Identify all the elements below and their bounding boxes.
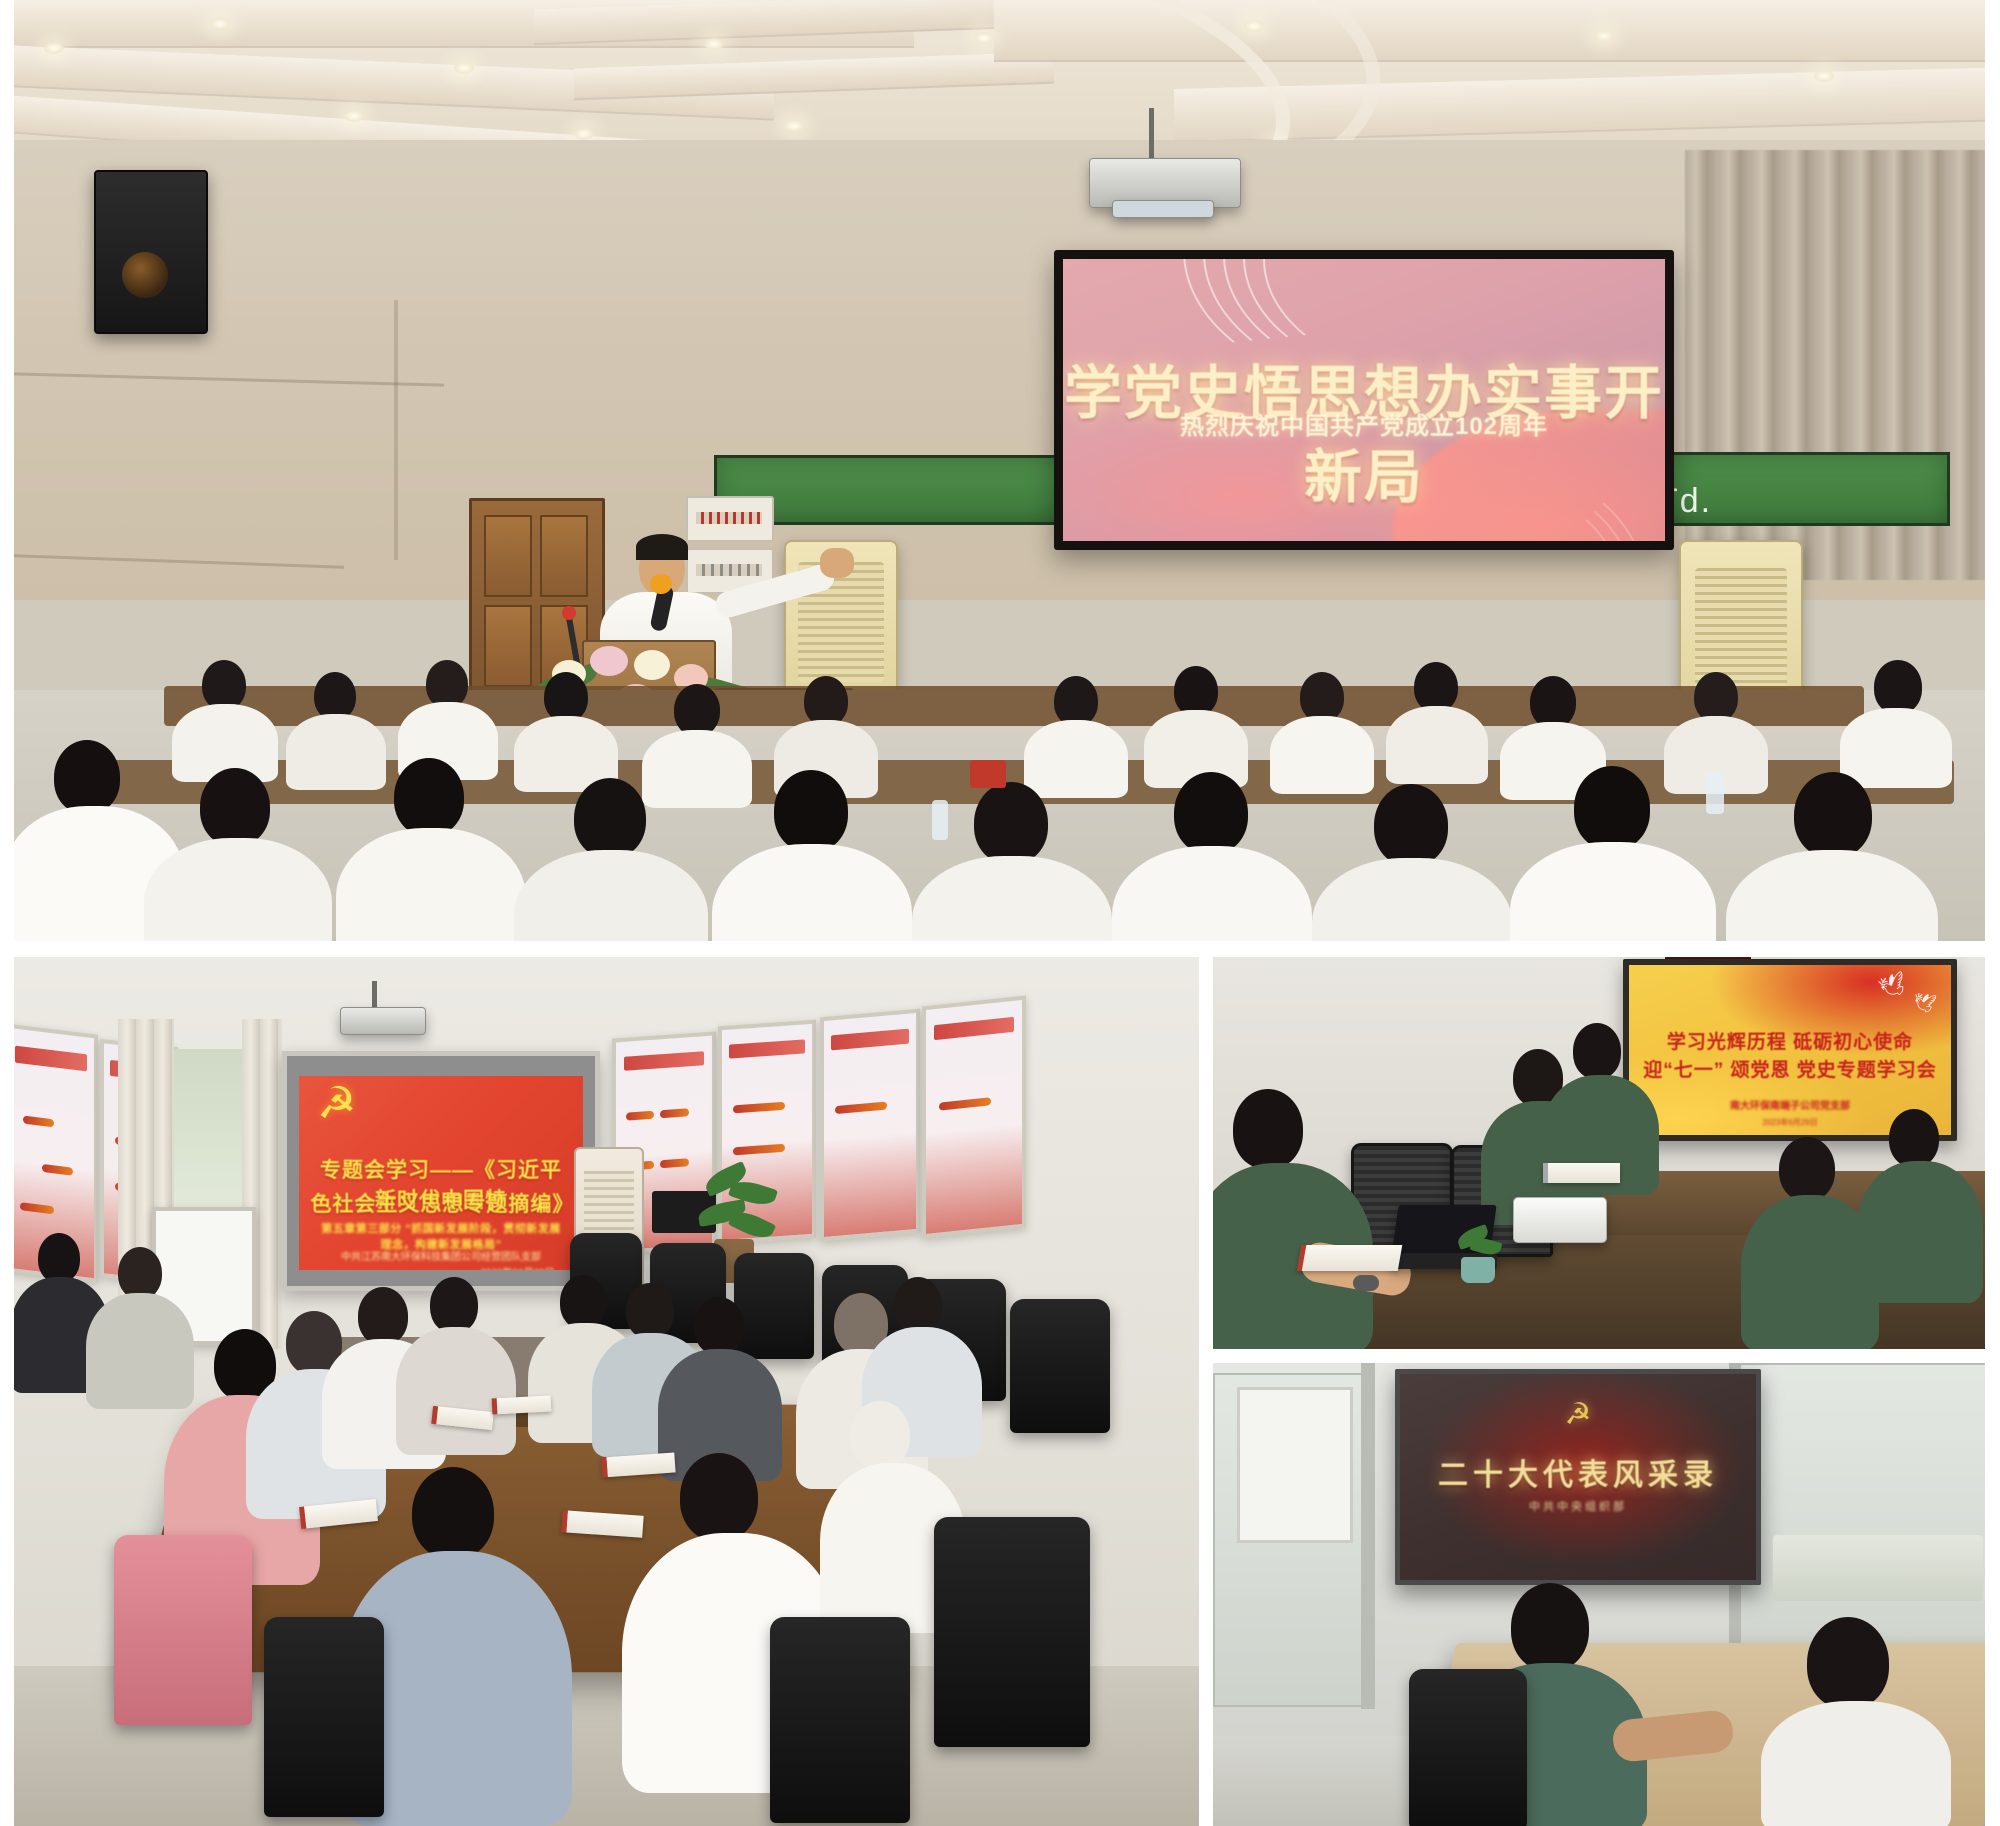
person-head <box>1807 1617 1889 1709</box>
slide-conference: ☭ 专题会学习——《习近平新时代中国特 色社会主义思想专题摘编》 第五章第三部分… <box>299 1076 583 1270</box>
slide-title: 二十大代表风采录 <box>1400 1450 1756 1494</box>
office-chair <box>1010 1299 1110 1433</box>
audience-head <box>804 676 848 726</box>
person-body <box>86 1293 194 1409</box>
back-table <box>1773 1535 1983 1601</box>
audience-head <box>1530 676 1576 728</box>
audience-head <box>674 684 720 736</box>
projector-mount <box>1149 108 1154 160</box>
slide-line2: 色社会主义思想专题摘编》 <box>310 1188 571 1218</box>
party-emblem-icon: ☭ <box>317 1082 356 1126</box>
audience-head <box>1054 676 1098 726</box>
downlight <box>704 38 724 50</box>
audience-head <box>1794 772 1872 858</box>
water-bottle <box>932 800 948 840</box>
audience-head <box>1414 662 1458 712</box>
office-chair <box>1409 1669 1527 1826</box>
audience-head <box>426 660 468 708</box>
projection-screen: ☭ 专题会学习——《习近平新时代中国特 色社会主义思想专题摘编》 第五章第三部分… <box>282 1051 600 1291</box>
office-chair <box>770 1617 910 1823</box>
projector-mount <box>372 981 377 1009</box>
mouse[interactable] <box>1353 1275 1379 1291</box>
wall-speaker <box>94 170 208 334</box>
party-emblem-icon: ☭ <box>1400 1400 1756 1430</box>
audience-head <box>394 758 464 836</box>
downlight <box>210 18 230 30</box>
person-head <box>560 1275 606 1329</box>
audience-head <box>574 778 646 858</box>
audience-body <box>1270 716 1374 794</box>
slide-line2: 迎“七一” 颂党恩 党史专题学习会 <box>1642 1055 1938 1082</box>
person-body <box>396 1327 516 1455</box>
person-head <box>430 1277 478 1333</box>
audience-head <box>1694 672 1738 722</box>
office-chair <box>264 1617 384 1817</box>
downlight <box>974 32 994 44</box>
office-chair <box>934 1517 1090 1747</box>
office-chair <box>734 1253 814 1359</box>
podium-microphone-head-icon <box>562 606 576 620</box>
person-head <box>1779 1137 1835 1201</box>
audience-head <box>1300 672 1344 722</box>
person-head <box>1233 1089 1303 1169</box>
chair-pink <box>114 1535 252 1725</box>
dove-icon: 🕊 <box>1876 969 1911 1002</box>
downlight <box>784 120 804 132</box>
wall-seam <box>394 300 398 560</box>
downlight <box>454 62 474 74</box>
wall-poster <box>922 996 1026 1239</box>
audience-head <box>202 660 246 710</box>
bonsai-pot <box>1461 1257 1495 1283</box>
person-head <box>1889 1109 1939 1167</box>
projection-screen: 学党史悟思想办实事开新局 热烈庆祝中国共产党成立102周年 <box>1054 250 1674 550</box>
whiteboard <box>1237 1387 1353 1543</box>
person-head <box>626 1283 674 1339</box>
audience-head <box>974 782 1048 864</box>
audience-body <box>286 714 386 790</box>
audience-head <box>774 770 848 852</box>
notebook <box>1543 1163 1620 1183</box>
person-head <box>694 1297 744 1355</box>
audience-body <box>642 730 752 808</box>
person-head <box>412 1467 494 1559</box>
person-body <box>1857 1161 1983 1303</box>
person-head <box>358 1287 408 1345</box>
slide-subtitle: 中共中央组织部 <box>1400 1498 1756 1514</box>
slide-dark: ☭ 二十大代表风采录 中共中央组织部 <box>1400 1374 1756 1580</box>
slide-auditorium: 学党史悟思想办实事开新局 热烈庆祝中国共产党成立102周年 <box>1063 259 1665 541</box>
wall-banner-right: Td. <box>1644 452 1950 526</box>
slide-line5: 2023年06月29日 <box>316 1264 555 1270</box>
dove-icon: 🕊 <box>1911 991 1937 1016</box>
person-head <box>680 1453 758 1541</box>
person-head <box>118 1247 162 1299</box>
audience-head <box>200 768 270 846</box>
audience-head <box>54 740 120 814</box>
panel-dark-slide-room: ☭ 二十大代表风采录 中共中央组织部 <box>1213 1363 1985 1826</box>
red-booklet <box>970 760 1006 788</box>
audience-head <box>1174 772 1248 854</box>
slide-line3: 南大环保南端子公司党支部 <box>1642 1097 1938 1112</box>
downlight <box>574 128 594 140</box>
downlight <box>1594 30 1614 42</box>
projector-lens <box>1112 200 1214 218</box>
downlight <box>1244 20 1264 32</box>
audience-body <box>1840 708 1952 788</box>
partition-post <box>1361 1363 1375 1709</box>
photo-collage: Jiangsu N Td. <box>0 0 2000 1826</box>
speaker-cone-icon <box>122 252 168 298</box>
speaker-hand <box>820 548 854 578</box>
person-head <box>38 1233 80 1283</box>
audience-head <box>1574 766 1650 850</box>
panel-auditorium: Jiangsu N Td. <box>14 0 1985 941</box>
downlight <box>1814 70 1834 82</box>
notebook <box>1297 1245 1403 1271</box>
person-head <box>1573 1023 1621 1079</box>
projection-screen: ☭ 二十大代表风采录 中共中央组织部 <box>1395 1369 1761 1585</box>
slide-subtitle: 热烈庆祝中国共产党成立102周年 <box>1063 406 1665 441</box>
downlight <box>344 110 364 122</box>
person-body <box>1761 1701 1951 1826</box>
wall-poster <box>820 1009 920 1242</box>
electrical-panel <box>686 496 774 542</box>
downlight <box>44 42 64 54</box>
slide-line1: 学习光辉历程 砥砺初心使命 <box>1642 1027 1938 1054</box>
person-head <box>1511 1583 1589 1671</box>
slide-line4: 中共江苏南大环保科技集团公司经营团队支部 <box>316 1248 566 1263</box>
person-head <box>894 1277 942 1333</box>
audience-head <box>314 672 356 720</box>
ceiling-projector <box>340 1007 426 1035</box>
water-bottle <box>1706 772 1724 814</box>
audience-head <box>1374 784 1448 866</box>
panel-conference-red-slide: ☭ 专题会学习——《习近平新时代中国特 色社会主义思想专题摘编》 第五章第三部分… <box>14 957 1199 1826</box>
audience-body <box>1386 706 1488 784</box>
person-head <box>850 1401 910 1469</box>
audience-body <box>1024 720 1128 798</box>
panel-meeting-yellow-slide: 🕊 🕊 学习光辉历程 砥砺初心使命 迎“七一” 颂党恩 党史专题学习会 南大环保… <box>1213 957 1985 1349</box>
microphone-head-icon <box>650 574 672 594</box>
red-booklet <box>492 1395 552 1414</box>
slide-meeting: 🕊 🕊 学习光辉历程 砥砺初心使命 迎“七一” 颂党恩 党史专题学习会 南大环保… <box>1629 965 1951 1135</box>
audience-head <box>1174 666 1218 716</box>
white-projector <box>1513 1197 1607 1243</box>
audience-head <box>544 672 588 722</box>
audience-head <box>1874 660 1922 714</box>
